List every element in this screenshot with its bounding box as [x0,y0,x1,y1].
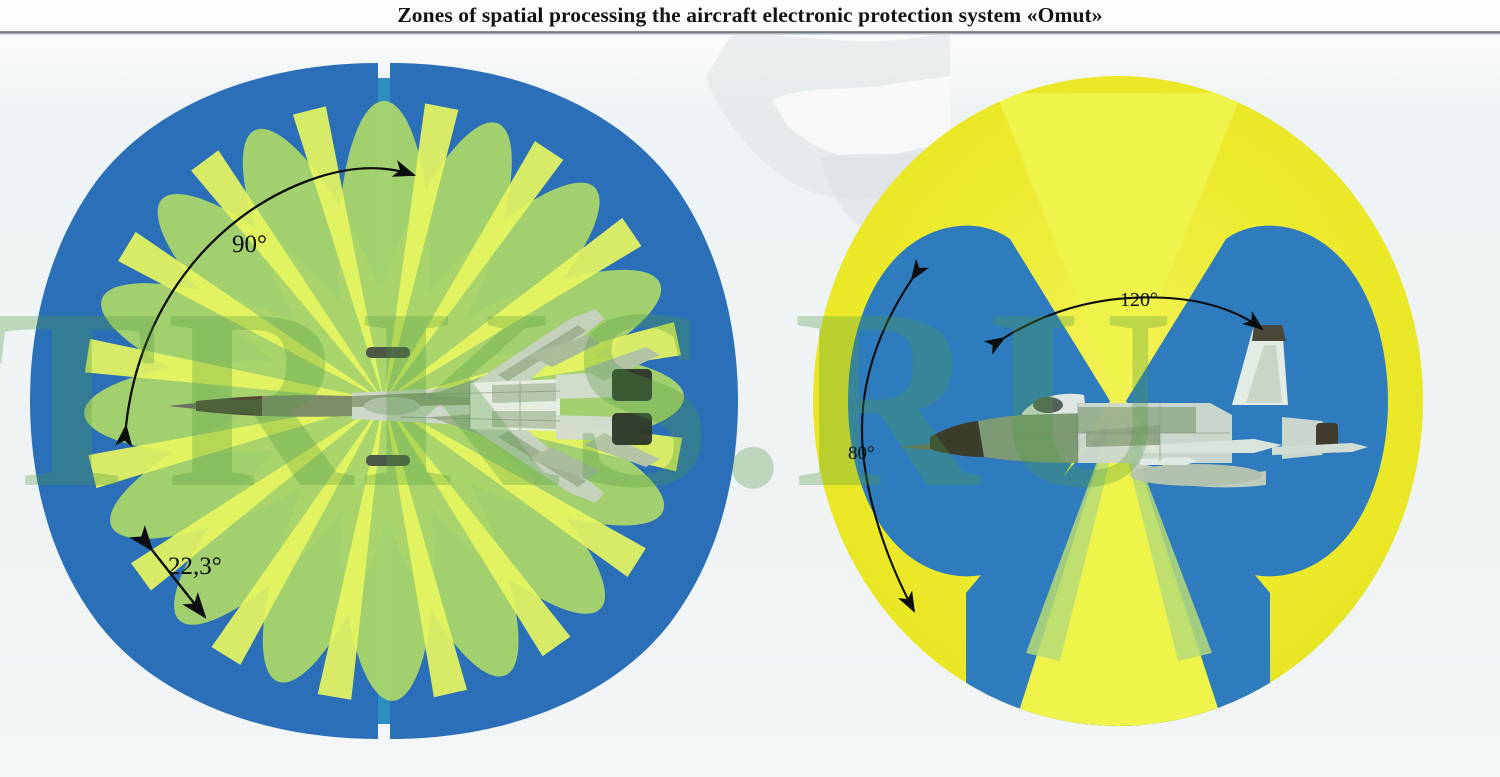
diagram-page: Zones of spatial processing the aircraft… [0,0,1500,777]
angle-label-120: 120° [1120,289,1158,312]
azimuth-diagram [30,63,738,739]
diagram-canvas [0,33,1500,777]
angle-label-80: 80° [848,443,875,465]
elevation-diagram [813,76,1423,733]
page-title: Zones of spatial processing the aircraft… [0,0,1500,28]
diagram-stage: TRKS.RU 90° 22,3° 120° 80° [0,33,1500,777]
page-title-bar: Zones of spatial processing the aircraft… [0,0,1500,33]
angle-label-22-3: 22,3° [168,553,222,581]
angle-label-90: 90° [232,231,267,259]
